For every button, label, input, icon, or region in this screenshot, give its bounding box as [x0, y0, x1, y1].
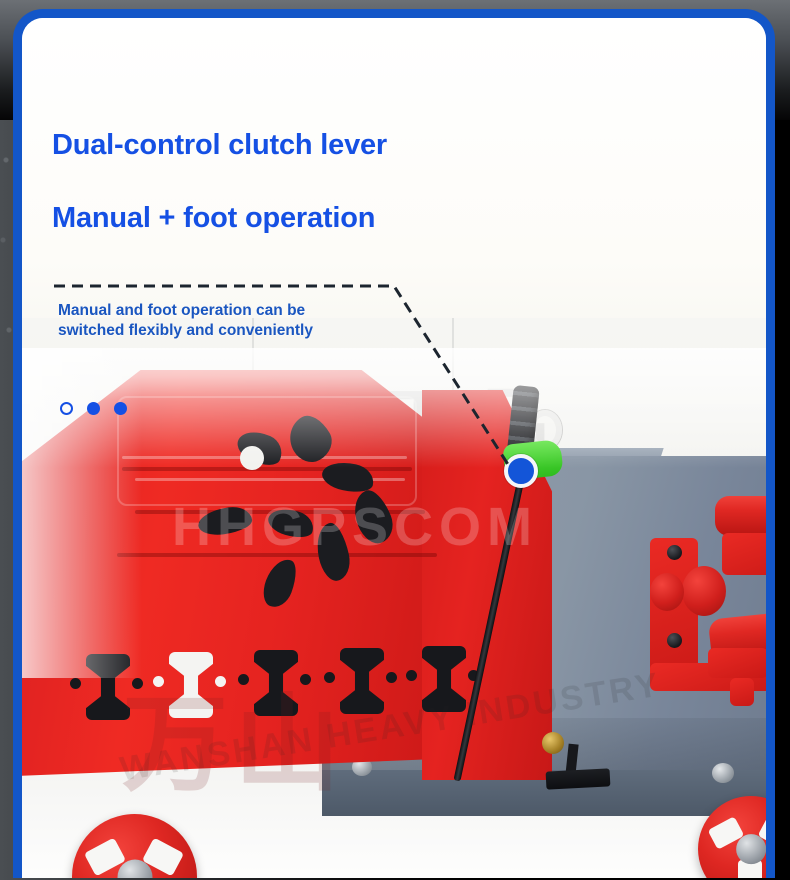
pagination-dot-2[interactable] [87, 402, 100, 415]
card-background: 正品 [22, 18, 766, 878]
guard-cutout-dot [386, 672, 397, 683]
bracket-bolt [667, 633, 682, 648]
guard-cutout-dot [406, 670, 417, 681]
bracket-bolt [667, 545, 682, 560]
guard-cutout-dot [238, 674, 249, 685]
callout-text-line-2: switched flexibly and conveniently [58, 321, 313, 341]
screenshot-stage: 正品 [0, 0, 790, 880]
clamp-cylinder [715, 496, 766, 536]
feed-roller-mount [708, 648, 766, 678]
guard-groove [117, 553, 437, 557]
guard-cutout-dot [132, 678, 143, 689]
feed-roller-stem [730, 678, 754, 706]
guard-cutout-dot [70, 678, 81, 689]
callout-text: Manual and foot operation can be switche… [58, 301, 313, 341]
cutter-wheel [682, 566, 726, 616]
guard-cutout-dot [240, 446, 264, 470]
guard-cutout-dot [324, 672, 335, 683]
linkage-pivot-bolt [542, 732, 564, 754]
pagination-dot-3[interactable] [114, 402, 127, 415]
cutter-hub [650, 573, 684, 611]
heading-line-2: Manual + foot operation [52, 203, 387, 235]
foot-pedal-plate [546, 768, 611, 789]
callout-marker-dot [504, 454, 538, 488]
guard-cutout-dot [300, 674, 311, 685]
headings-block: Dual-control clutch lever Manual + foot … [52, 130, 387, 235]
clamp-plate [722, 533, 766, 575]
guard-cutout-dot [153, 676, 164, 687]
guard-cutout-dot [215, 676, 226, 687]
product-card-frame: 正品 [13, 9, 775, 878]
pagination-dot-1[interactable] [60, 402, 73, 415]
heading-line-1: Dual-control clutch lever [52, 130, 387, 162]
callout-text-line-1: Manual and foot operation can be [58, 301, 313, 321]
bolt [712, 763, 734, 783]
wheel-hub [736, 834, 766, 864]
pagination-dots[interactable] [60, 402, 127, 415]
